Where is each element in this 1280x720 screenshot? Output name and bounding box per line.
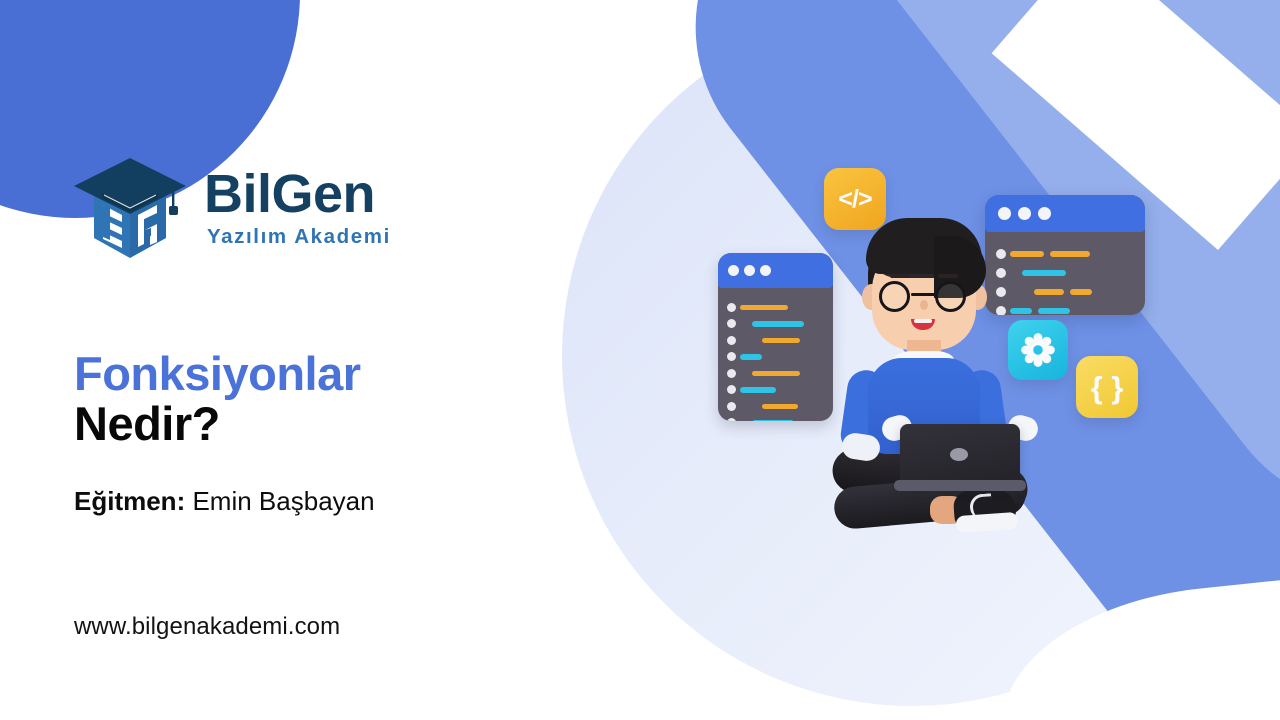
code-line (727, 349, 825, 366)
white-wedge-mask (991, 567, 1280, 720)
slide-title-line-1: Fonksiyonlar (74, 349, 361, 398)
teeth (914, 319, 932, 323)
code-line (727, 316, 825, 333)
curly-braces-glyph: { } (1091, 372, 1124, 403)
brand-logo-text: BilGen Yazılım Akademi (204, 167, 391, 248)
code-line-bar (752, 321, 804, 327)
code-line-bullet (727, 402, 736, 411)
laptop-logo (950, 448, 968, 461)
code-line-bullet (727, 303, 736, 312)
code-window-rows (718, 288, 833, 421)
code-line-bar (762, 404, 798, 410)
code-line-bar (752, 420, 794, 421)
window-dot (1038, 207, 1051, 220)
code-line-bullet (727, 336, 736, 345)
window-dot (744, 265, 755, 276)
code-line-bullet (727, 369, 736, 378)
code-line (727, 365, 825, 382)
instructor-label: Eğitmen: (74, 486, 185, 516)
code-line-bar (740, 387, 776, 393)
code-line (727, 398, 825, 415)
instructor-line: Eğitmen: Emin Başbayan (74, 485, 375, 519)
code-line (727, 415, 825, 422)
brand-tagline: Yazılım Akademi (207, 227, 391, 248)
laptop-base (894, 480, 1026, 491)
code-tag-glyph: </> (838, 187, 871, 212)
lens-left (879, 281, 910, 312)
presentation-slide: BilGen Yazılım Akademi Fonksiyonlar Nedi… (0, 0, 1280, 720)
brand-logo: BilGen Yazılım Akademi (72, 152, 391, 262)
developer-illustration: </> { } (660, 140, 1180, 580)
left-content-pane: BilGen Yazılım Akademi Fonksiyonlar Nedi… (72, 0, 542, 720)
code-line-bullet (727, 385, 736, 394)
code-line-bar (1050, 251, 1090, 257)
graduation-cap-bg-monogram-icon (72, 152, 190, 262)
window-dot (760, 265, 771, 276)
eyebrow-right (938, 274, 958, 278)
nose (920, 300, 928, 310)
brand-name: BilGen (204, 167, 391, 221)
code-line-bar (762, 338, 800, 344)
code-line-bar (740, 305, 788, 311)
eyebrow-left (890, 274, 910, 278)
code-line-bar (1070, 289, 1092, 295)
code-line-bar (740, 354, 762, 360)
developer-character (838, 218, 1038, 548)
slide-title: Fonksiyonlar Nedir? (74, 349, 361, 451)
code-window-titlebar (718, 253, 833, 288)
code-window-tall (718, 253, 833, 421)
code-line (727, 299, 825, 316)
code-line (727, 332, 825, 349)
code-line (727, 382, 825, 399)
code-line-bullet (727, 319, 736, 328)
website-url: www.bilgenakademi.com (74, 613, 340, 641)
code-line-bar (1034, 289, 1064, 295)
code-line-bar (752, 371, 800, 377)
slide-title-line-2: Nedir? (74, 398, 361, 451)
window-dot (728, 265, 739, 276)
instructor-name: Emin Başbayan (192, 486, 374, 516)
code-line-bullet (727, 418, 736, 421)
sneaker-sole (955, 512, 1018, 533)
code-line-bullet (727, 352, 736, 361)
glasses-bridge (911, 293, 937, 296)
curly-braces-badge-icon: { } (1076, 356, 1138, 418)
lens-right (935, 281, 966, 312)
code-line-bar (1038, 308, 1070, 314)
